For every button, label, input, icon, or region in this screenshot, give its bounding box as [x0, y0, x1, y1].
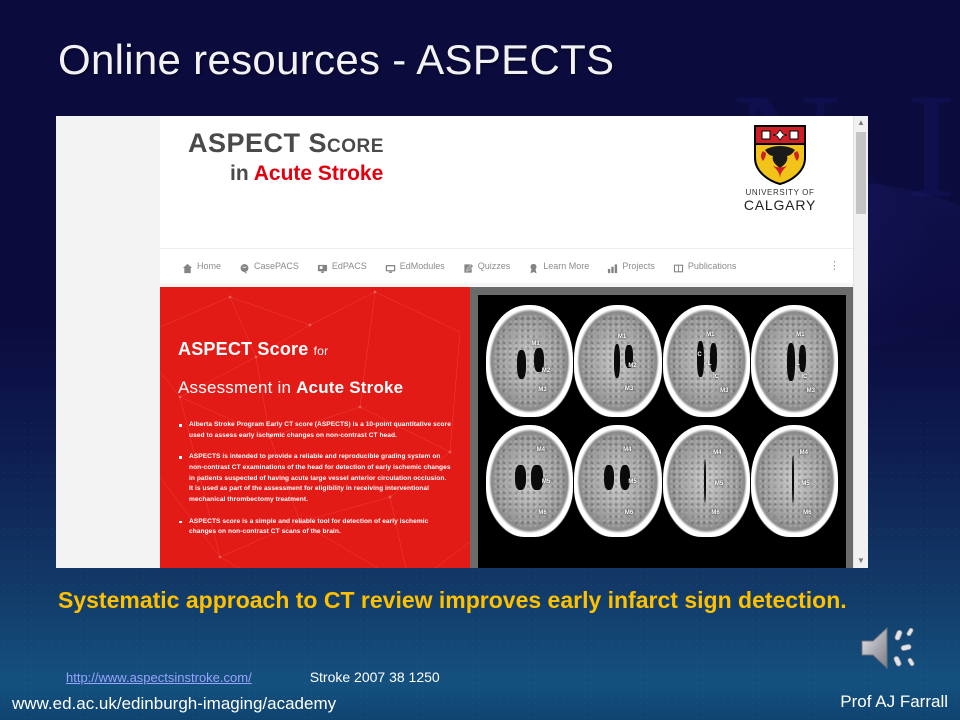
red-panel-subheading-bold: Acute Stroke [296, 378, 403, 397]
ct-slice: M1 M2 M3 [486, 305, 573, 417]
nav-item-publications[interactable]: Publications [673, 261, 737, 272]
red-panel-heading: ASPECT Score for [178, 339, 452, 360]
ct-label: M6 [538, 510, 546, 516]
ct-label: C [697, 352, 701, 358]
list-item: ASPECTS score is a simple and reliable t… [178, 517, 452, 538]
scrollbar-thumb[interactable] [856, 132, 866, 214]
nav-item-edmodules[interactable]: EdModules [385, 261, 445, 272]
ct-label: M6 [625, 510, 633, 516]
slide-root: N I Online resources - ASPECTS ASPECT SC… [0, 0, 960, 720]
embedded-webpage-frame[interactable]: ASPECT SCORE in Acute Stroke [56, 116, 868, 568]
list-item: ASPECTS is intended to provide a reliabl… [178, 452, 452, 505]
ct-label: M2 [542, 368, 550, 374]
nav-overflow-icon[interactable]: ⋮ [829, 264, 840, 268]
site-navigation: Home CasePACS EdPACS [160, 248, 854, 283]
university-logo: UNIVERSITY OF CALGARY [732, 124, 828, 213]
ct-label: M3 [625, 386, 633, 392]
ct-label: M3 [807, 388, 815, 394]
nav-item-projects[interactable]: Projects [607, 261, 655, 272]
list-item: Alberta Stroke Program Early CT score (A… [178, 420, 452, 441]
nav-item-learn-more[interactable]: Learn More [528, 261, 589, 272]
red-panel-subheading-prefix: Assessment in [178, 378, 296, 397]
red-panel-subheading: Assessment in Acute Stroke [178, 378, 452, 398]
ct-label: M1 [531, 341, 539, 347]
page-title: Online resources - ASPECTS [58, 36, 614, 84]
book-icon [673, 261, 684, 272]
red-panel-heading-main: ASPECT Score [178, 339, 308, 359]
ct-label: IC [713, 374, 719, 380]
logo-line-1: ASPECT SCORE [188, 128, 384, 159]
ct-slice: M4 M5 M6 [663, 425, 750, 537]
ct-label: M6 [711, 510, 719, 516]
ct-slice: M4 M5 M6 [486, 425, 573, 537]
ct-label: M4 [623, 447, 631, 453]
logo-line2-red: Acute Stroke [254, 162, 384, 185]
nav-label-edmodules: EdModules [400, 261, 445, 271]
nav-label-quizzes: Quizzes [478, 261, 511, 271]
ct-image-panel: M1 M2 M3 M1 M2 M3 [470, 287, 854, 568]
presenter-name: Prof AJ Farrall [840, 692, 948, 712]
ct-label: M1 [618, 334, 626, 340]
aspects-website-link[interactable]: http://www.aspectsinstroke.com/ [66, 670, 252, 685]
nav-label-casepacs: CasePACS [254, 261, 299, 271]
ct-row-bottom: M4 M5 M6 M4 M5 M6 [486, 425, 838, 537]
ct-label: M2 [628, 363, 636, 369]
slide-headline: Systematic approach to CT review improve… [58, 586, 938, 615]
red-panel-content: ASPECT Score for Assessment in Acute Str… [160, 287, 470, 538]
nav-item-edpacs[interactable]: EdPACS [317, 261, 367, 272]
ct-label: M4 [800, 450, 808, 456]
ct-label: M4 [713, 450, 721, 456]
university-line-2: CALGARY [732, 197, 828, 213]
ct-label: M3 [538, 387, 546, 393]
site-logo: ASPECT SCORE in Acute Stroke [188, 128, 384, 186]
ct-label: M5 [542, 479, 550, 485]
scroll-down-icon[interactable]: ▼ [854, 554, 868, 568]
pencil-note-icon [463, 261, 474, 272]
reference-row: http://www.aspectsinstroke.com/ Stroke 2… [66, 669, 440, 685]
red-panel-heading-for: for [314, 344, 329, 358]
calgary-shield-icon [753, 124, 807, 186]
ct-slice: M4 M5 M6 [574, 425, 661, 537]
ct-label: M5 [628, 479, 636, 485]
nav-item-home[interactable]: Home [182, 261, 221, 272]
nav-label-edpacs: EdPACS [332, 261, 367, 271]
ct-label: M1 [796, 332, 804, 338]
embedded-page-content: ASPECT SCORE in Acute Stroke [160, 116, 854, 568]
nav-item-quizzes[interactable]: Quizzes [463, 261, 511, 272]
university-line-1: UNIVERSITY OF [732, 188, 828, 197]
monitor-icon [317, 261, 328, 272]
site-header: ASPECT SCORE in Acute Stroke [160, 116, 854, 248]
ct-slice: M1 L IC M3 [751, 305, 838, 417]
award-icon [528, 261, 539, 272]
ct-label: L [796, 361, 800, 367]
ct-label: M3 [720, 388, 728, 394]
nav-label-publications: Publications [688, 261, 737, 271]
scroll-up-icon[interactable]: ▲ [854, 116, 868, 130]
nav-label-home: Home [197, 261, 221, 271]
ct-label: M1 [706, 332, 714, 338]
ct-label: M5 [715, 481, 723, 487]
red-panel-bullet-list: Alberta Stroke Program Early CT score (A… [178, 420, 452, 538]
ct-image-board: M1 M2 M3 M1 M2 M3 [478, 295, 846, 568]
content-panes: ASPECT Score for Assessment in Acute Str… [160, 287, 854, 568]
ct-label: IC [801, 374, 807, 380]
display-icon [385, 261, 396, 272]
home-icon [182, 261, 193, 272]
ct-slice: M1 C L IC M3 [663, 305, 750, 417]
ct-label: M5 [801, 481, 809, 487]
brain-icon [239, 261, 250, 272]
bar-chart-icon [607, 261, 618, 272]
logo-line1-small: CORE [327, 136, 384, 157]
ct-slice: M4 M5 M6 [751, 425, 838, 537]
ct-row-top: M1 M2 M3 M1 M2 M3 [486, 305, 838, 417]
ct-label: M4 [537, 447, 545, 453]
speaker-audio-icon[interactable] [856, 622, 922, 674]
journal-citation: Stroke 2007 38 1250 [310, 669, 440, 685]
logo-line1-main: ASPECT S [188, 128, 327, 158]
ct-label: L [708, 361, 712, 367]
nav-label-projects: Projects [622, 261, 655, 271]
nav-label-learn-more: Learn More [543, 261, 589, 271]
page-scrollbar[interactable]: ▲ ▼ [853, 116, 868, 568]
ct-slice: M1 M2 M3 [574, 305, 661, 417]
ct-label: M6 [803, 510, 811, 516]
logo-line2-prefix: in [230, 162, 254, 185]
footer-url: www.ed.ac.uk/edinburgh-imaging/academy [12, 694, 336, 714]
red-info-panel: ASPECT Score for Assessment in Acute Str… [160, 287, 470, 568]
nav-item-casepacs[interactable]: CasePACS [239, 261, 299, 272]
logo-line-2: in Acute Stroke [230, 162, 384, 186]
